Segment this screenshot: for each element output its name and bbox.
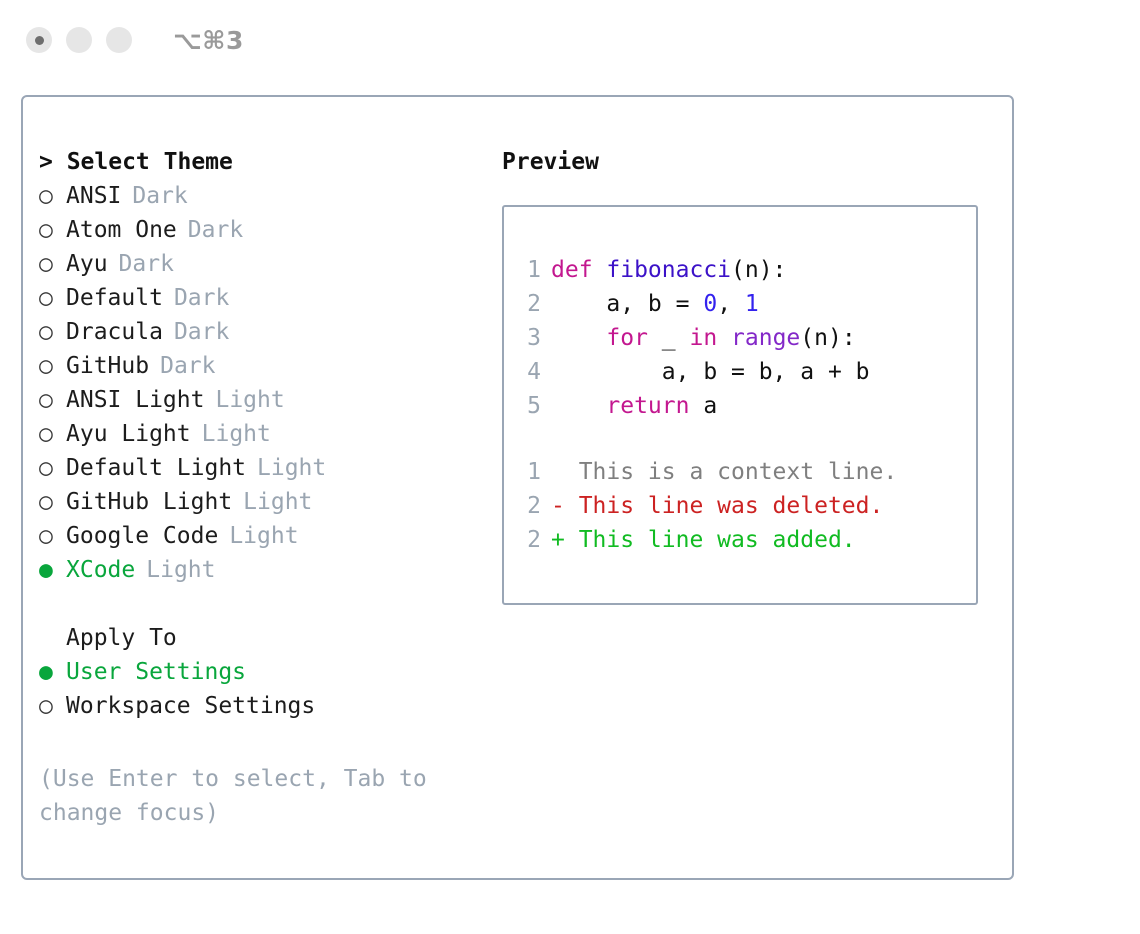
code-token: def bbox=[551, 257, 606, 283]
window-controls bbox=[26, 27, 132, 53]
theme-option-ayu[interactable]: ○AyuDark bbox=[39, 247, 489, 281]
theme-name-label: ANSI Light bbox=[66, 383, 204, 417]
radio-unselected-icon: ○ bbox=[39, 417, 66, 451]
theme-option-default[interactable]: ○DefaultDark bbox=[39, 281, 489, 315]
theme-option-github[interactable]: ○GitHubDark bbox=[39, 349, 489, 383]
line-number: 2 bbox=[504, 523, 551, 557]
theme-name-label: Ayu bbox=[66, 247, 108, 281]
theme-name-label: Ayu Light bbox=[66, 417, 191, 451]
theme-option-xcode[interactable]: ●XCodeLight bbox=[39, 553, 489, 587]
window-dot-third-icon[interactable] bbox=[106, 27, 132, 53]
line-content: return a bbox=[551, 389, 717, 423]
theme-variant-label: Dark bbox=[108, 247, 174, 281]
theme-name-label: Default bbox=[66, 281, 163, 315]
theme-variant-label: Dark bbox=[149, 349, 215, 383]
code-token: 1 bbox=[745, 291, 759, 317]
keyboard-shortcut-label: ⌥⌘3 bbox=[173, 26, 244, 55]
theme-variant-label: Light bbox=[191, 417, 271, 451]
theme-variant-label: Dark bbox=[163, 315, 229, 349]
code-line: 5 return a bbox=[504, 389, 976, 423]
code-token: + This line was added. bbox=[551, 527, 856, 553]
theme-selector-panel: > Select Theme ○ANSIDark○Atom OneDark○Ay… bbox=[39, 145, 489, 723]
select-theme-heading: > Select Theme bbox=[39, 145, 489, 179]
code-token: return bbox=[606, 393, 689, 419]
radio-unselected-icon: ○ bbox=[39, 349, 66, 383]
theme-variant-label: Light bbox=[135, 553, 215, 587]
theme-option-ansi-light[interactable]: ○ANSI LightLight bbox=[39, 383, 489, 417]
line-content: a, b = 0, 1 bbox=[551, 287, 759, 321]
preview-panel: Preview 1def fibonacci(n):2 a, b = 0, 13… bbox=[502, 145, 992, 605]
radio-unselected-icon: ○ bbox=[39, 689, 66, 723]
code-token: a, b = bbox=[551, 291, 703, 317]
theme-name-label: Atom One bbox=[66, 213, 177, 247]
app-window: ⌥⌘3 > Select Theme ○ANSIDark○Atom OneDar… bbox=[0, 0, 1140, 934]
code-token: _ bbox=[648, 325, 690, 351]
window-dot-inner-icon bbox=[35, 36, 44, 45]
line-content: - This line was deleted. bbox=[551, 489, 883, 523]
code-token: a, b = b, a + b bbox=[551, 359, 870, 385]
line-content: This is a context line. bbox=[551, 455, 897, 489]
code-token: in bbox=[689, 325, 717, 351]
radio-unselected-icon: ○ bbox=[39, 179, 66, 213]
code-block: 1def fibonacci(n):2 a, b = 0, 13 for _ i… bbox=[504, 253, 976, 423]
apply-to-option-user-settings[interactable]: ●User Settings bbox=[39, 655, 489, 689]
line-number: 5 bbox=[504, 389, 551, 423]
code-token bbox=[551, 325, 606, 351]
preview-box: 1def fibonacci(n):2 a, b = 0, 13 for _ i… bbox=[502, 205, 978, 605]
code-token: for bbox=[606, 325, 648, 351]
theme-name-label: Google Code bbox=[66, 519, 218, 553]
theme-option-ansi[interactable]: ○ANSIDark bbox=[39, 179, 489, 213]
window-dot-second-icon[interactable] bbox=[66, 27, 92, 53]
theme-list: ○ANSIDark○Atom OneDark○AyuDark○DefaultDa… bbox=[39, 179, 489, 587]
line-content: def fibonacci(n): bbox=[551, 253, 786, 287]
radio-unselected-icon: ○ bbox=[39, 247, 66, 281]
code-token: 0 bbox=[703, 291, 717, 317]
code-token: a bbox=[689, 393, 717, 419]
radio-unselected-icon: ○ bbox=[39, 213, 66, 247]
theme-name-label: GitHub bbox=[66, 349, 149, 383]
radio-unselected-icon: ○ bbox=[39, 383, 66, 417]
window-dot-active-icon[interactable] bbox=[26, 27, 52, 53]
preview-title: Preview bbox=[502, 145, 992, 179]
diff-line: 2- This line was deleted. bbox=[504, 489, 976, 523]
theme-option-atom-one[interactable]: ○Atom OneDark bbox=[39, 213, 489, 247]
code-token: , bbox=[717, 291, 745, 317]
list-spacer bbox=[39, 587, 489, 621]
theme-variant-label: Light bbox=[218, 519, 298, 553]
radio-unselected-icon: ○ bbox=[39, 315, 66, 349]
code-line: 4 a, b = b, a + b bbox=[504, 355, 976, 389]
theme-name-label: Default Light bbox=[66, 451, 246, 485]
theme-name-label: GitHub Light bbox=[66, 485, 232, 519]
radio-unselected-icon: ○ bbox=[39, 519, 66, 553]
code-line: 3 for _ in range(n): bbox=[504, 321, 976, 355]
code-token: This is a context line. bbox=[551, 459, 897, 485]
radio-selected-icon: ● bbox=[39, 655, 66, 689]
line-number: 3 bbox=[504, 321, 551, 355]
code-line: 1def fibonacci(n): bbox=[504, 253, 976, 287]
line-content: + This line was added. bbox=[551, 523, 856, 557]
theme-name-label: XCode bbox=[66, 553, 135, 587]
line-content: a, b = b, a + b bbox=[551, 355, 870, 389]
code-token bbox=[717, 325, 731, 351]
code-token: (n): bbox=[800, 325, 855, 351]
apply-to-label: User Settings bbox=[66, 655, 246, 689]
theme-variant-label: Light bbox=[232, 485, 312, 519]
theme-variant-label: Light bbox=[246, 451, 326, 485]
keyboard-hint-text: (Use Enter to select, Tab to change focu… bbox=[39, 762, 459, 830]
line-number: 2 bbox=[504, 489, 551, 523]
theme-option-ayu-light[interactable]: ○Ayu LightLight bbox=[39, 417, 489, 451]
apply-to-label: Workspace Settings bbox=[66, 689, 315, 723]
code-token: range bbox=[731, 325, 800, 351]
code-token bbox=[551, 393, 606, 419]
main-card: > Select Theme ○ANSIDark○Atom OneDark○Ay… bbox=[21, 95, 1014, 880]
radio-selected-icon: ● bbox=[39, 553, 66, 587]
radio-unselected-icon: ○ bbox=[39, 485, 66, 519]
theme-name-label: Dracula bbox=[66, 315, 163, 349]
theme-variant-label: Dark bbox=[177, 213, 243, 247]
diff-line: 2+ This line was added. bbox=[504, 523, 976, 557]
radio-unselected-icon: ○ bbox=[39, 451, 66, 485]
code-token: (n): bbox=[731, 257, 786, 283]
theme-option-google-code[interactable]: ○Google CodeLight bbox=[39, 519, 489, 553]
theme-option-default-light[interactable]: ○Default LightLight bbox=[39, 451, 489, 485]
theme-name-label: ANSI bbox=[66, 179, 121, 213]
theme-variant-label: Dark bbox=[121, 179, 187, 213]
theme-option-dracula[interactable]: ○DraculaDark bbox=[39, 315, 489, 349]
radio-unselected-icon: ○ bbox=[39, 281, 66, 315]
code-token: fibonacci bbox=[606, 257, 731, 283]
apply-to-heading: Apply To bbox=[39, 621, 489, 655]
line-number: 1 bbox=[504, 253, 551, 287]
theme-option-github-light[interactable]: ○GitHub LightLight bbox=[39, 485, 489, 519]
diff-block: 1 This is a context line.2- This line wa… bbox=[504, 455, 976, 557]
line-number: 1 bbox=[504, 455, 551, 489]
line-number: 4 bbox=[504, 355, 551, 389]
line-number: 2 bbox=[504, 287, 551, 321]
code-line: 2 a, b = 0, 1 bbox=[504, 287, 976, 321]
apply-to-option-workspace-settings[interactable]: ○Workspace Settings bbox=[39, 689, 489, 723]
diff-line: 1 This is a context line. bbox=[504, 455, 976, 489]
apply-to-list: ●User Settings○Workspace Settings bbox=[39, 655, 489, 723]
title-bar: ⌥⌘3 bbox=[0, 0, 1140, 80]
line-content: for _ in range(n): bbox=[551, 321, 856, 355]
theme-variant-label: Dark bbox=[163, 281, 229, 315]
code-diff-gap bbox=[504, 423, 976, 455]
code-token: - This line was deleted. bbox=[551, 493, 883, 519]
theme-variant-label: Light bbox=[204, 383, 284, 417]
